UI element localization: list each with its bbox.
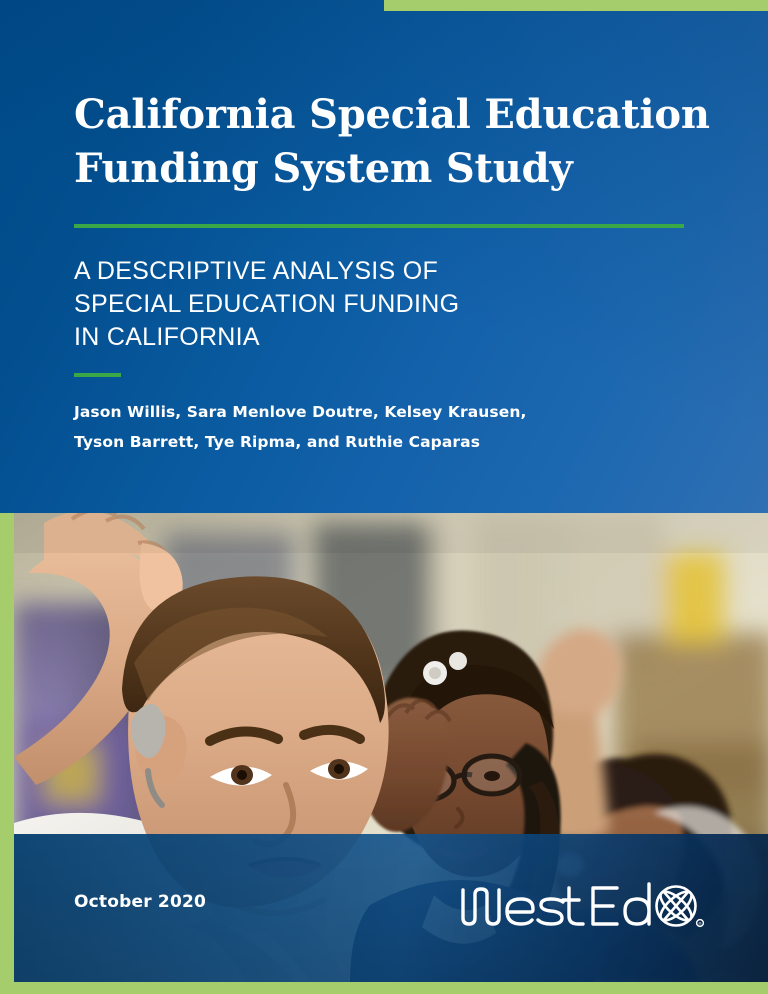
author-list: Jason Willis, Sara Menlove Doutre, Kelse… [74, 397, 694, 457]
wested-wordmark-icon [463, 884, 649, 924]
green-accent-tab [384, 0, 768, 11]
green-bottom-bar [0, 982, 768, 994]
document-subtitle-block: A DESCRIPTIVE ANALYSIS OF SPECIAL EDUCAT… [74, 255, 674, 354]
document-title-line-1: California Special Education [74, 88, 714, 142]
green-divider-long [74, 224, 684, 228]
author-line-1: Jason Willis, Sara Menlove Doutre, Kelse… [74, 397, 694, 427]
page-title: California Special Education Funding Sys… [74, 88, 714, 196]
globe-icon [656, 887, 696, 926]
document-subtitle-line-3: IN CALIFORNIA [74, 321, 674, 354]
document-subtitle: A DESCRIPTIVE ANALYSIS OF SPECIAL EDUCAT… [74, 255, 674, 354]
document-title-line-2: Funding System Study [74, 142, 714, 196]
wested-logo-svg: ® [459, 878, 709, 934]
document-cover: California Special Education Funding Sys… [0, 0, 768, 994]
cover-footer-band: October 2020 [14, 834, 768, 982]
green-divider-short [74, 373, 121, 377]
authors: Jason Willis, Sara Menlove Doutre, Kelse… [74, 397, 694, 457]
document-title: California Special Education Funding Sys… [74, 88, 714, 196]
document-subtitle-line-2: SPECIAL EDUCATION FUNDING [74, 288, 674, 321]
document-subtitle-line-1: A DESCRIPTIVE ANALYSIS OF [74, 255, 674, 288]
publication-date: October 2020 [74, 892, 206, 912]
author-line-2: Tyson Barrett, Tye Ripma, and Ruthie Cap… [74, 427, 694, 457]
wested-logo: ® [459, 878, 709, 934]
